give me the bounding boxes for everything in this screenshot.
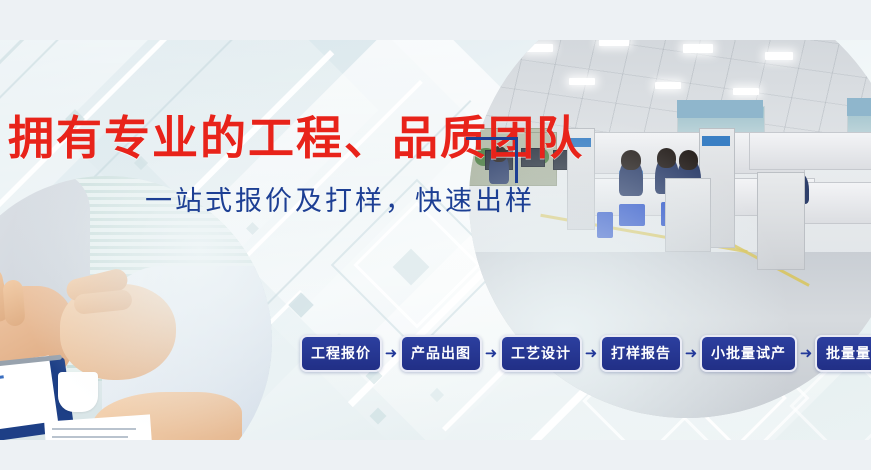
process-step-2[interactable]: 产品出图 bbox=[400, 335, 482, 372]
ceiling-light bbox=[599, 40, 629, 46]
ceiling-light bbox=[683, 44, 713, 53]
process-flow: 工程报价 ➜ 产品出图 ➜ 工艺设计 ➜ 打样报告 ➜ 小批量试产 ➜ 批量量产 bbox=[300, 335, 871, 372]
ceiling-light bbox=[765, 52, 793, 60]
coffee-cup bbox=[58, 372, 98, 412]
ceiling-light bbox=[569, 78, 595, 85]
window-blind bbox=[847, 98, 871, 116]
process-step-1[interactable]: 工程报价 bbox=[300, 335, 382, 372]
process-step-5[interactable]: 小批量试产 bbox=[700, 335, 797, 372]
flow-arrow-icon: ➜ bbox=[582, 344, 600, 364]
workbench-shelf bbox=[749, 132, 871, 170]
stool bbox=[619, 204, 645, 226]
diamond-decoration bbox=[393, 249, 430, 286]
diamond-decoration bbox=[65, 109, 85, 129]
page-top-band bbox=[0, 0, 871, 40]
process-step-4[interactable]: 打样报告 bbox=[600, 335, 682, 372]
worker-head bbox=[621, 150, 641, 170]
document-line bbox=[52, 436, 128, 438]
photo-scene bbox=[0, 176, 272, 440]
ceiling-light bbox=[733, 88, 759, 95]
business-meeting-photo bbox=[0, 176, 272, 440]
finger bbox=[2, 279, 25, 326]
window-blind bbox=[677, 100, 763, 118]
divider-panel bbox=[665, 178, 711, 252]
flow-arrow-icon: ➜ bbox=[797, 344, 815, 364]
diamond-decoration bbox=[430, 388, 444, 402]
page-bottom-band bbox=[0, 440, 871, 470]
ceiling-light bbox=[525, 44, 553, 52]
flow-arrow-icon: ➜ bbox=[382, 344, 400, 364]
diamond-decoration bbox=[288, 292, 313, 317]
monitor bbox=[521, 148, 545, 167]
flow-arrow-icon: ➜ bbox=[482, 344, 500, 364]
process-step-6[interactable]: 批量量产 bbox=[815, 335, 871, 372]
diamond-outline-decoration bbox=[353, 201, 480, 328]
banner-stage: 拥有专业的工程、品质团队 一站式报价及打样，快速出样 工程报价 ➜ 产品出图 ➜… bbox=[0, 40, 871, 440]
diamond-decoration bbox=[134, 156, 148, 170]
worker-head bbox=[657, 148, 676, 168]
panel-tag bbox=[569, 138, 591, 147]
panel-tag bbox=[702, 136, 730, 146]
banner-root: 拥有专业的工程、品质团队 一站式报价及打样，快速出样 工程报价 ➜ 产品出图 ➜… bbox=[0, 0, 871, 470]
process-step-3[interactable]: 工艺设计 bbox=[500, 335, 582, 372]
diamond-decoration bbox=[370, 408, 387, 425]
worker-head bbox=[491, 146, 507, 162]
stool bbox=[597, 212, 613, 238]
document-line bbox=[52, 428, 136, 430]
worker-head bbox=[679, 150, 698, 170]
divider-panel bbox=[757, 172, 805, 270]
ceiling-light bbox=[655, 82, 681, 89]
flow-arrow-icon: ➜ bbox=[682, 344, 700, 364]
